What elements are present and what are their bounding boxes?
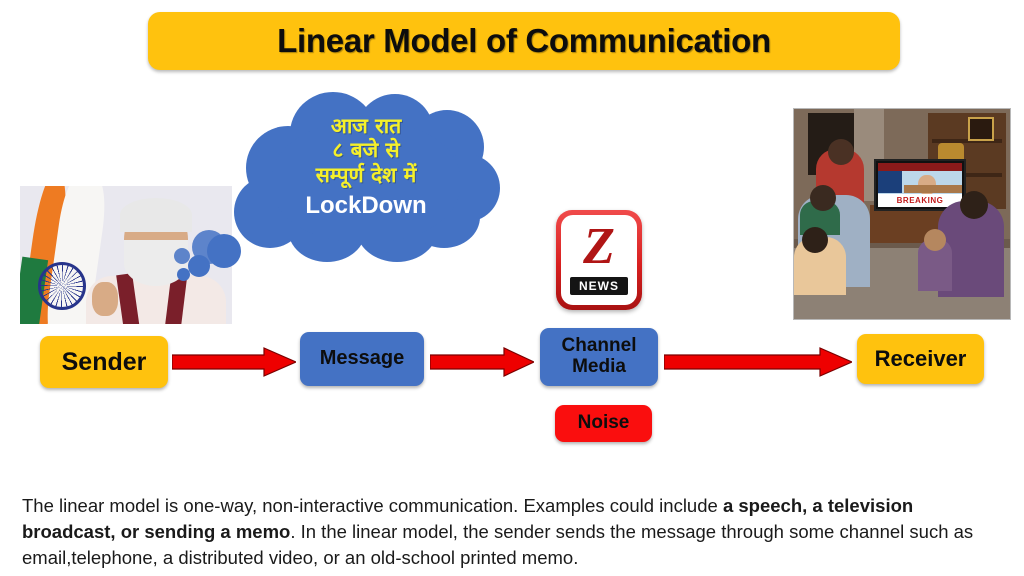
arrow-sender-to-message (172, 347, 296, 377)
receiver-photo: BREAKING (793, 108, 1011, 320)
tv-podium (904, 185, 962, 193)
thought-trail-bubble-large (207, 234, 241, 268)
thought-trail-bubble-medium (188, 255, 210, 277)
tv-channel-panel (878, 171, 902, 193)
flow-box-sender-label: Sender (62, 349, 147, 376)
flow-box-message[interactable]: Message (300, 332, 424, 386)
viewer-woman2-head (960, 191, 988, 219)
picture-frame (968, 117, 994, 141)
page-title: Linear Model of Communication (277, 22, 771, 60)
flow-box-sender[interactable]: Sender (40, 336, 168, 388)
tv-breaking-text: BREAKING (897, 196, 944, 205)
flow-box-channel-label-line1: Channel (562, 336, 637, 357)
viewer-girl-head (802, 227, 828, 253)
page-title-banner: Linear Model of Communication (148, 12, 900, 70)
arrow-message-to-channel (430, 347, 534, 377)
thought-trail-bubble-small (177, 268, 190, 281)
viewer-man-head (828, 139, 854, 165)
tv-headline-bar (878, 163, 962, 171)
tv-screen: BREAKING (878, 163, 962, 207)
flow-box-channel-label-line2: Media (572, 357, 626, 378)
logo-inner-panel: Z NEWS (561, 215, 637, 305)
thought-cloud-icon: आज रात ८ बजे से सम्पूर्ण देश में LockDow… (232, 92, 500, 264)
caption-paragraph: The linear model is one-way, non-interac… (22, 493, 1006, 572)
speaker-hair (120, 198, 192, 232)
ashoka-chakra-icon (38, 262, 86, 310)
flow-box-noise[interactable]: Noise (555, 405, 652, 442)
flow-box-receiver-label: Receiver (875, 347, 967, 371)
flow-box-noise-label: Noise (578, 413, 630, 434)
arrow-channel-to-receiver (664, 347, 852, 377)
flow-box-channel-media[interactable]: Channel Media (540, 328, 658, 386)
flow-box-message-label: Message (320, 348, 405, 370)
logo-letter-z: Z (561, 221, 637, 273)
zee-news-logo-icon: Z NEWS (556, 210, 642, 310)
speaker-hand (92, 282, 118, 316)
cloud-core (272, 122, 460, 242)
logo-news-label: NEWS (570, 277, 628, 295)
viewer-child-head (924, 229, 946, 251)
viewer-woman-head (810, 185, 836, 211)
caption-part-1: The linear model is one-way, non-interac… (22, 495, 723, 516)
flow-box-receiver[interactable]: Receiver (857, 334, 984, 384)
